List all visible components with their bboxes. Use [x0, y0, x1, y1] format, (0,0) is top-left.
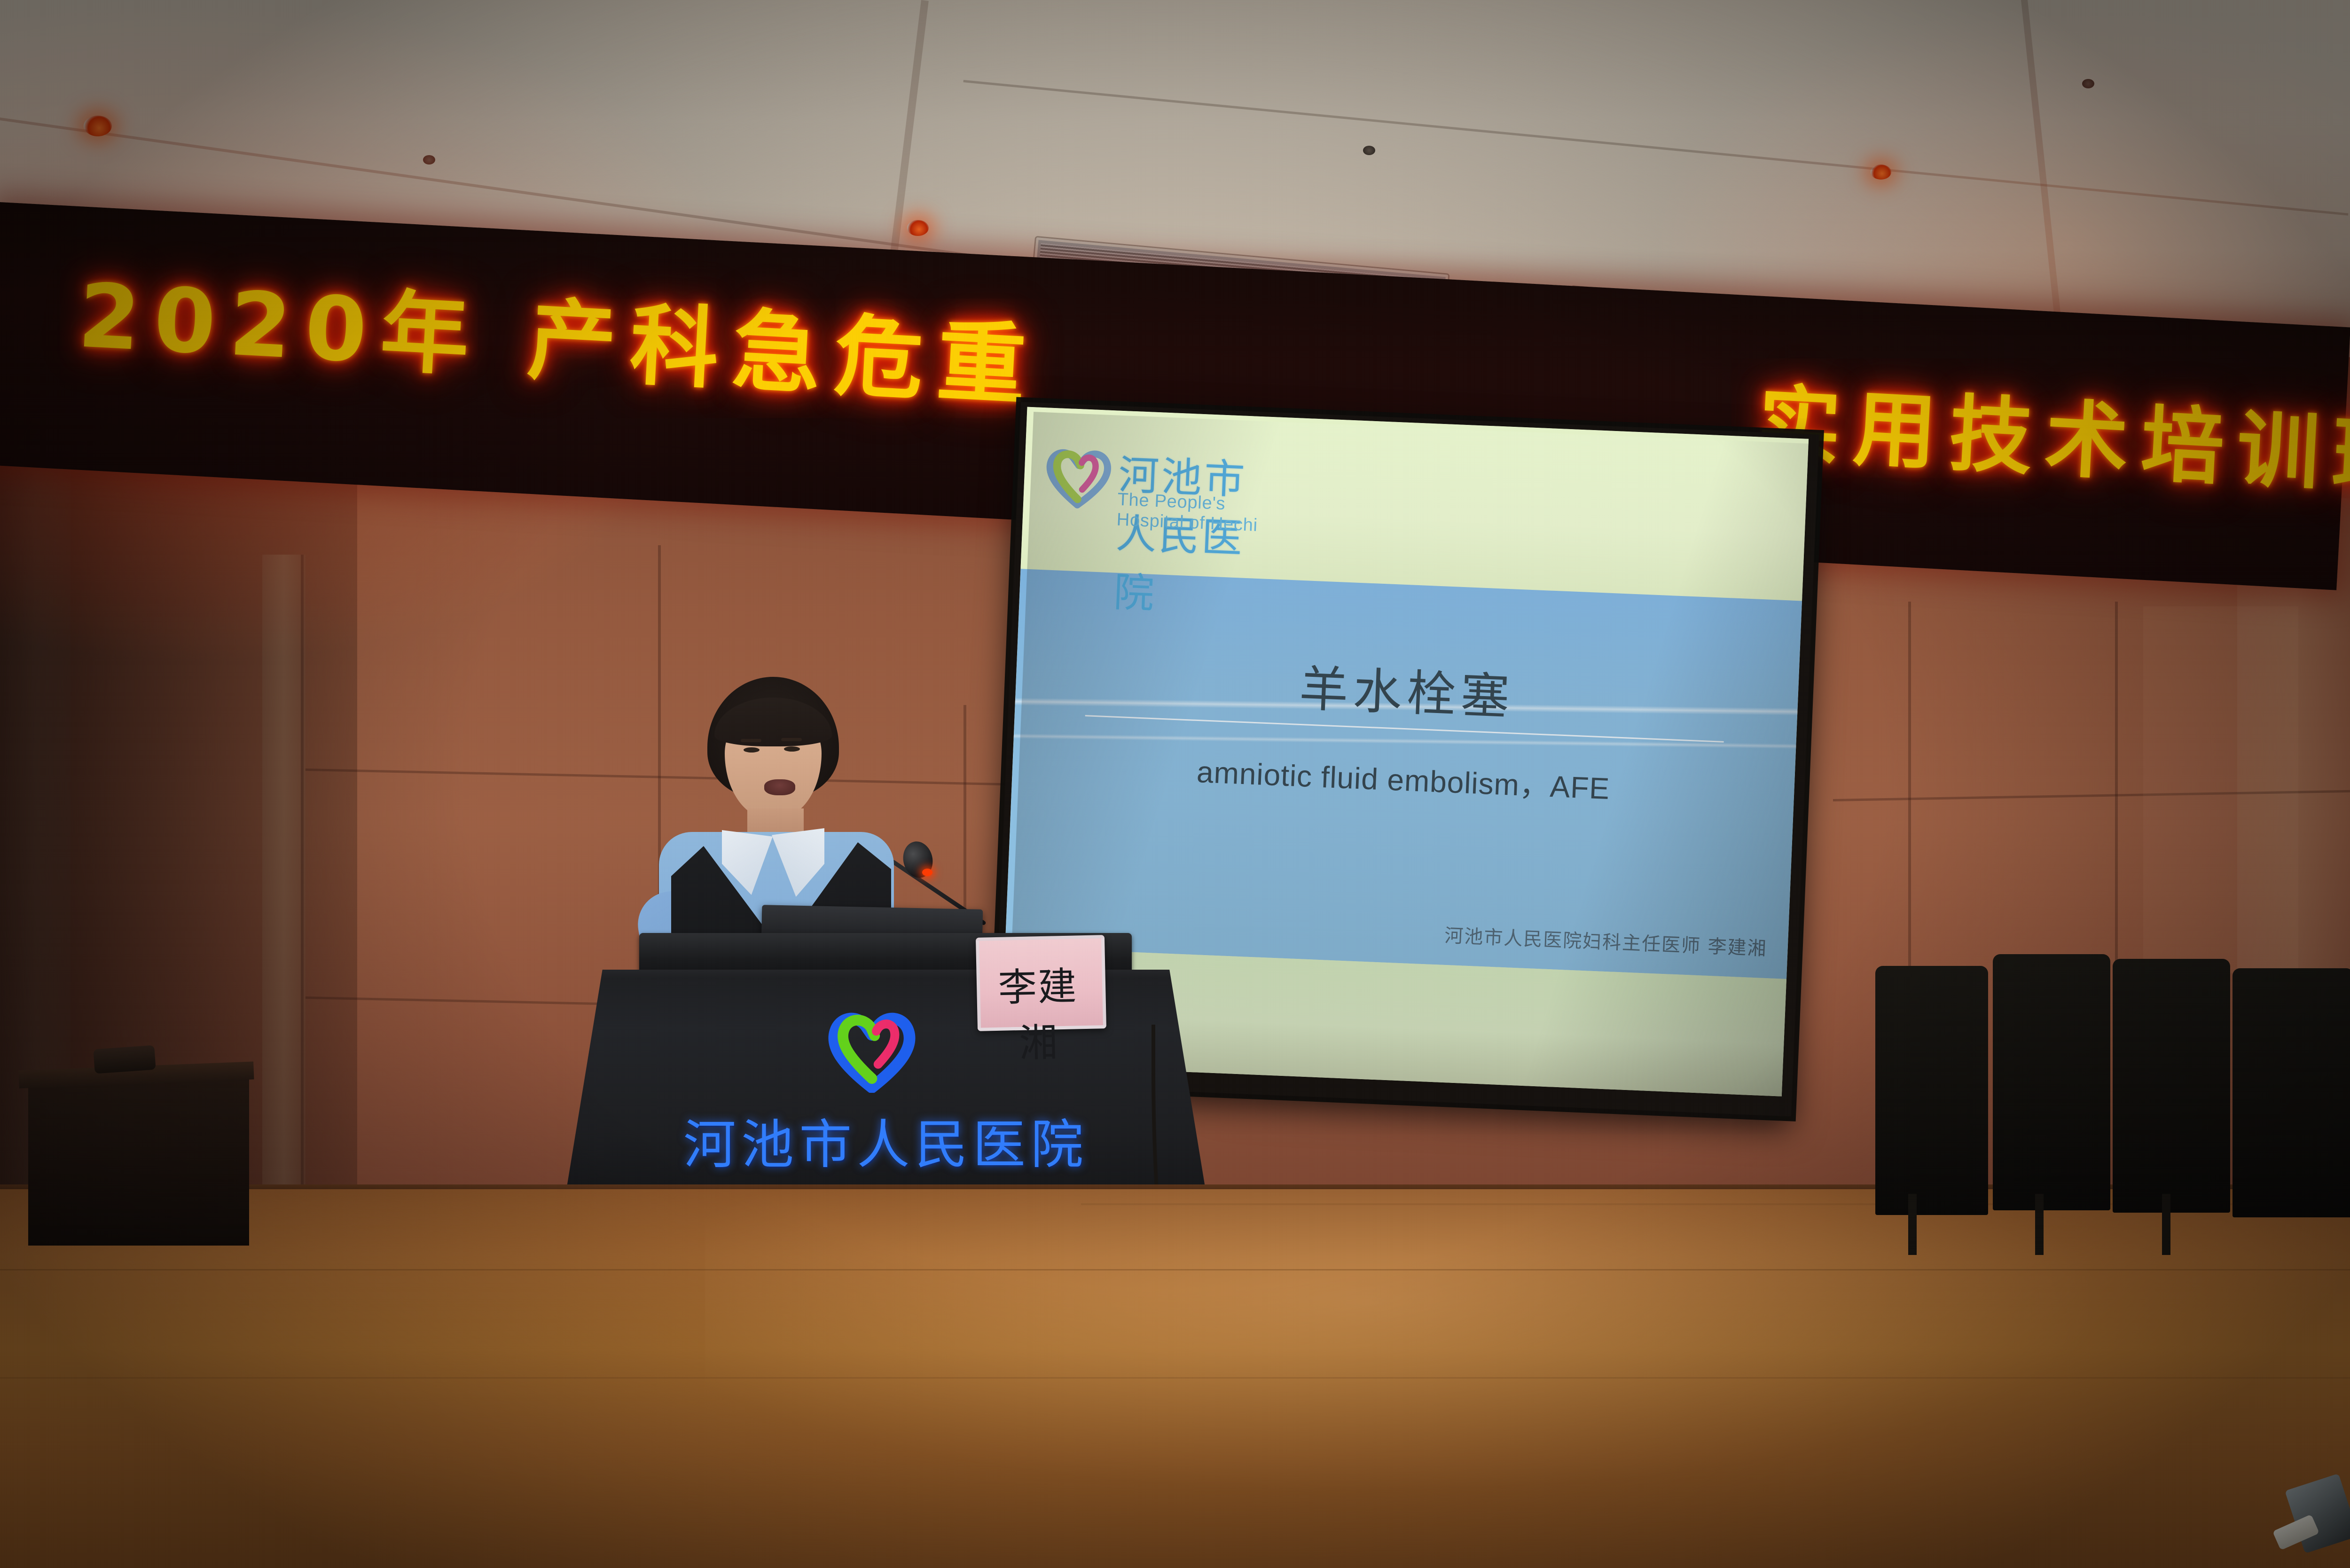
side-table [28, 1076, 249, 1246]
presenter-eye-right [784, 746, 800, 752]
led-banner-text-right: 实用技术培训班 [1755, 356, 2350, 512]
nameplate-name: 李建湘 [979, 955, 1097, 1069]
nameplate: 李建湘 [976, 935, 1106, 1031]
photo-scene: 2020年 产科急危重 实用技术培训班 河池市人民医院 The [0, 0, 2350, 1568]
floor-light-reflection [705, 1189, 2350, 1568]
floor-plank-line [0, 1377, 2350, 1379]
slide-logo: 河池市人民医院 The People's Hospital of Hechi [1041, 436, 1289, 535]
side-table-equipment [93, 1045, 156, 1074]
floor-plank-line [0, 1269, 2350, 1270]
presenter-eye-left [744, 747, 760, 753]
chair [2232, 968, 2350, 1217]
chair [1875, 966, 1988, 1215]
chair-leg [2035, 1194, 2044, 1255]
podium-hospital-name: 河池市人民医院 [559, 1102, 1213, 1178]
tri-color-heart-icon [1042, 439, 1115, 512]
tri-color-heart-icon [822, 1004, 921, 1093]
slide-logo-english: The People's Hospital of Hechi [1116, 490, 1287, 537]
presenter-brow-right [781, 738, 802, 741]
wall-panel-highlight [2143, 606, 2298, 973]
presenter-brow-left [741, 739, 761, 742]
chair-leg [2162, 1194, 2170, 1255]
chair-leg [1908, 1194, 1917, 1255]
ceiling-sprinkler-1 [1363, 146, 1375, 155]
led-banner-text-left: 2020年 产科急危重 [76, 244, 1043, 423]
chair [2113, 959, 2230, 1213]
chair [1993, 954, 2110, 1210]
presenter-mouth [764, 779, 795, 795]
